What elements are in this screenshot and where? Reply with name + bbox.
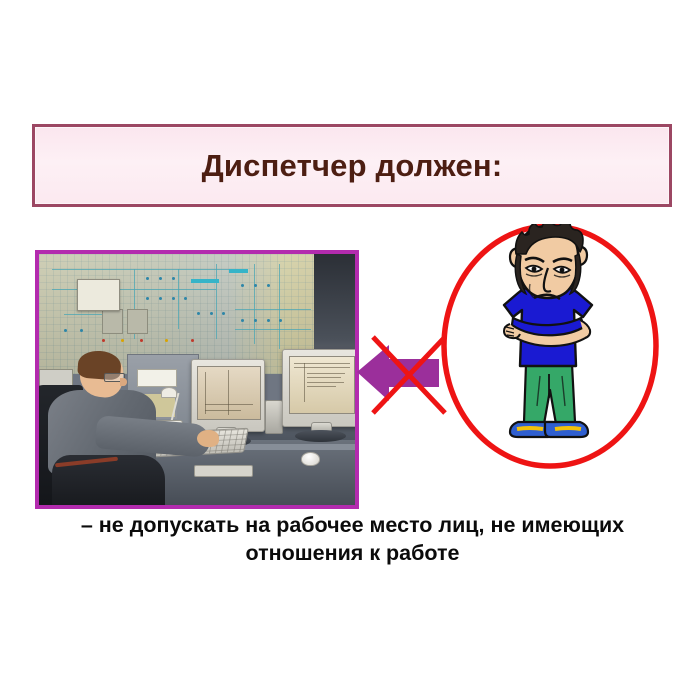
photo-content xyxy=(39,254,355,505)
desktop-speaker xyxy=(265,400,283,435)
mimic-dot xyxy=(172,277,175,280)
mimic-line xyxy=(216,264,217,339)
mimic-dot xyxy=(254,284,257,287)
mimic-panel xyxy=(127,309,148,334)
mimic-dot xyxy=(172,297,175,300)
caption: – не допускать на рабочее место лиц, не … xyxy=(35,512,670,567)
mimic-dot xyxy=(159,297,162,300)
operator-nose xyxy=(120,378,127,386)
cartoon-pupil-left xyxy=(532,267,537,272)
operator-hand xyxy=(197,430,219,448)
mimic-dot xyxy=(159,277,162,280)
unauthorized-person-svg xyxy=(420,224,675,474)
computer-mouse xyxy=(301,452,320,466)
mimic-line xyxy=(235,329,311,330)
monitor-right-base xyxy=(295,430,346,443)
mimic-indicator-bar xyxy=(229,269,248,273)
posted-note xyxy=(137,369,177,386)
caption-line-2: отношения к работе xyxy=(35,540,670,568)
mimic-document xyxy=(77,279,120,311)
mimic-indicator-bar xyxy=(191,279,219,283)
mimic-panel xyxy=(102,309,123,334)
cartoon-figure xyxy=(504,224,592,437)
title-banner: Диспетчер должен: xyxy=(32,124,672,207)
page-title: Диспетчер должен: xyxy=(202,150,503,181)
mimic-line xyxy=(254,264,255,344)
paper-tray xyxy=(194,465,253,477)
monitor-left xyxy=(191,359,266,431)
cartoon-shoe-right-stripe xyxy=(555,428,581,429)
monitor-right xyxy=(282,349,355,426)
cartoon-shoe-left-stripe xyxy=(517,428,543,429)
mimic-dot xyxy=(267,284,270,287)
mimic-line xyxy=(279,264,280,349)
monitor-right-screen xyxy=(289,356,355,414)
mimic-dot xyxy=(210,312,213,315)
monitor-left-screen xyxy=(197,366,260,420)
cartoon-pupil-right xyxy=(560,268,565,273)
caption-line-1: – не допускать на рабочее место лиц, не … xyxy=(35,512,670,540)
unauthorized-person-group xyxy=(420,224,675,474)
mimic-line xyxy=(235,309,311,310)
mimic-line xyxy=(178,269,179,329)
mimic-dot xyxy=(267,319,270,322)
mimic-line xyxy=(52,269,242,270)
control-room-photo xyxy=(35,250,359,509)
desk-lamp-head xyxy=(161,387,177,398)
mimic-dot xyxy=(197,312,200,315)
